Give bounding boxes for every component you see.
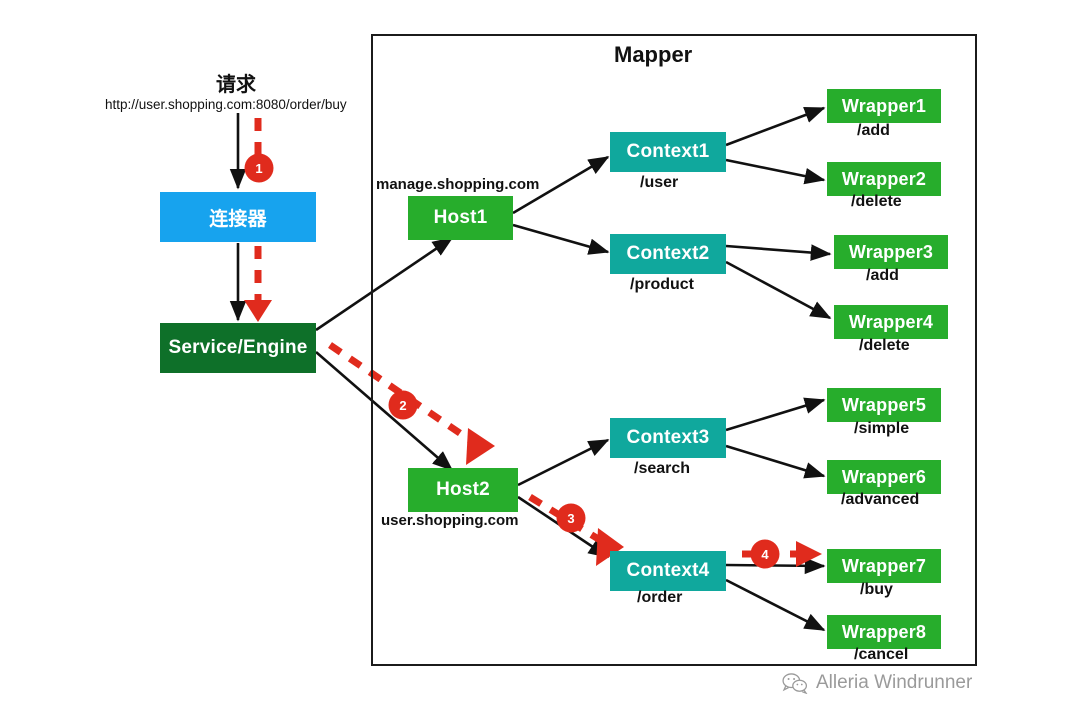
wrapper8-node[interactable]: Wrapper8 <box>827 615 941 649</box>
wrapper5-node[interactable]: Wrapper5 <box>827 388 941 422</box>
wrapper1-node[interactable]: Wrapper1 <box>827 89 941 123</box>
wrapper1-path: /add <box>857 122 890 140</box>
wrapper2-node[interactable]: Wrapper2 <box>827 162 941 196</box>
context1-node[interactable]: Context1 <box>610 132 726 172</box>
step-badge-1: 1 <box>246 155 272 181</box>
wrapper8-path: /cancel <box>854 646 908 664</box>
footer-watermark: Alleria Windrunner <box>782 672 972 694</box>
step-badge-4: 4 <box>752 541 778 567</box>
wrapper2-path: /delete <box>851 193 902 211</box>
context3-node[interactable]: Context3 <box>610 418 726 458</box>
step-badge-3: 3 <box>558 505 584 531</box>
mapper-title: Mapper <box>614 42 692 68</box>
context4-node[interactable]: Context4 <box>610 551 726 591</box>
wrapper7-path: /buy <box>860 581 893 599</box>
wrapper4-path: /delete <box>859 337 910 355</box>
wrapper5-path: /simple <box>854 420 909 438</box>
wrapper7-node[interactable]: Wrapper7 <box>827 549 941 583</box>
request-url: http://user.shopping.com:8080/order/buy <box>105 97 347 112</box>
footer-handle: Alleria Windrunner <box>816 672 972 694</box>
context2-path: /product <box>630 276 694 294</box>
context2-node[interactable]: Context2 <box>610 234 726 274</box>
diagram-canvas: 请求 http://user.shopping.com:8080/order/b… <box>0 0 1080 716</box>
connector-node[interactable]: 连接器 <box>160 192 316 242</box>
host1-node[interactable]: Host1 <box>408 196 513 240</box>
wrapper3-node[interactable]: Wrapper3 <box>834 235 948 269</box>
context1-path: /user <box>640 174 678 192</box>
context3-path: /search <box>634 460 690 478</box>
step-badge-2: 2 <box>390 392 416 418</box>
wechat-icon <box>782 672 808 694</box>
wrapper3-path: /add <box>866 267 899 285</box>
request-title: 请求 <box>216 68 256 97</box>
wrapper4-node[interactable]: Wrapper4 <box>834 305 948 339</box>
host1-domain-label: manage.shopping.com <box>376 176 539 193</box>
wrapper6-node[interactable]: Wrapper6 <box>827 460 941 494</box>
service-engine-node[interactable]: Service/Engine <box>160 323 316 373</box>
wrapper6-path: /advanced <box>841 491 919 509</box>
host2-domain-label: user.shopping.com <box>381 512 519 529</box>
context4-path: /order <box>637 589 682 607</box>
host2-node[interactable]: Host2 <box>408 468 518 512</box>
